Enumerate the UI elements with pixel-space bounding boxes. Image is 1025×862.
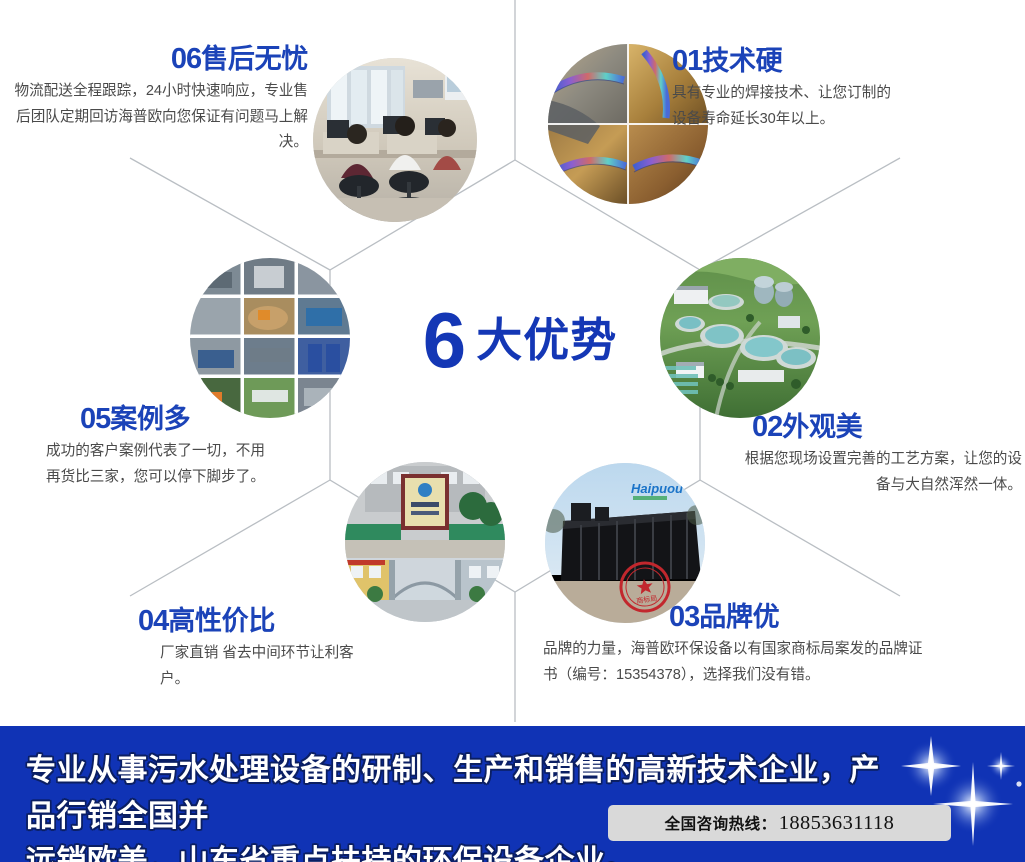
feature-04-desc: 厂家直销 省去中间环节让利客户。 <box>138 641 368 691</box>
hotline-box[interactable]: 全国咨询热线： 18853631118 <box>608 805 951 841</box>
feature-04-label: 高性价比 <box>168 606 275 636</box>
banner-line-2: 远销欧美，山东省重点扶持的环保设备企业。 <box>26 839 886 862</box>
feature-06: 06售后无忧 物流配送全程跟踪，24小时快速响应，专业售后团队定期回访海普欧向您… <box>8 44 308 155</box>
feature-04-number: 04 <box>138 605 168 637</box>
feature-04-title: 04高性价比 <box>138 606 438 636</box>
feature-01-number: 01 <box>672 45 702 77</box>
bottom-banner: 专业从事污水处理设备的研制、生产和销售的高新技术企业，产品行销全国并 远销欧美，… <box>0 726 1025 862</box>
feature-06-label: 售后无忧 <box>201 44 308 74</box>
feature-03-desc: 品牌的力量，海普欧环保设备以有国家商标局案发的品牌证书（编号：15354378）… <box>543 637 923 687</box>
feature-05: 05案例多 成功的客户案例代表了一切，不用再货比三家，您可以停下脚步了。 <box>46 404 326 490</box>
six-advantages-infographic: Haipuou 商标局 <box>0 0 1025 862</box>
feature-01-label: 技术硬 <box>702 46 782 76</box>
feature-02-label: 外观美 <box>782 412 862 442</box>
center-badge: 6 大优势 <box>400 292 640 388</box>
feature-06-title: 06售后无忧 <box>8 44 308 74</box>
feature-03: 03品牌优 品牌的力量，海普欧环保设备以有国家商标局案发的品牌证书（编号：153… <box>543 602 923 688</box>
feature-05-desc: 成功的客户案例代表了一切，不用再货比三家，您可以停下脚步了。 <box>46 439 278 489</box>
feature-03-label: 品牌优 <box>699 602 779 632</box>
feature-04: 04高性价比 厂家直销 省去中间环节让利客户。 <box>138 606 438 692</box>
center-number: 6 <box>423 301 464 379</box>
feature-02: 02外观美 根据您现场设置完善的工艺方案，让您的设备与大自然浑然一体。 <box>742 412 1022 498</box>
feature-05-title: 05案例多 <box>46 404 326 434</box>
hotline-number: 18853631118 <box>779 812 895 835</box>
branded-equipment-photo: Haipuou 商标局 <box>545 463 705 623</box>
hotline-label: 全国咨询热线： <box>665 812 777 834</box>
feature-02-number: 02 <box>752 411 782 443</box>
wastewater-plant-aerial-photo <box>660 258 820 418</box>
feature-05-label: 案例多 <box>110 404 190 434</box>
svg-text:Haipuou: Haipuou <box>631 481 683 496</box>
feature-05-number: 05 <box>80 403 110 435</box>
feature-01: 01技术硬 具有专业的焊接技术、让您订制的设备寿命延长30年以上。 <box>672 46 1002 132</box>
feature-06-number: 06 <box>171 43 201 75</box>
center-label: 大优势 <box>476 317 617 363</box>
factory-gate-photo <box>345 462 505 622</box>
feature-01-title: 01技术硬 <box>672 46 1002 76</box>
feature-06-desc: 物流配送全程跟踪，24小时快速响应，专业售后团队定期回访海普欧向您保证有问题马上… <box>8 79 308 154</box>
feature-01-desc: 具有专业的焊接技术、让您订制的设备寿命延长30年以上。 <box>672 81 892 131</box>
case-collage-photo <box>190 258 350 418</box>
feature-02-title: 02外观美 <box>742 412 1022 442</box>
feature-03-title: 03品牌优 <box>543 602 923 632</box>
feature-03-number: 03 <box>669 601 699 633</box>
after-sales-office-photo <box>313 58 477 222</box>
feature-02-desc: 根据您现场设置完善的工艺方案，让您的设备与大自然浑然一体。 <box>742 447 1022 497</box>
